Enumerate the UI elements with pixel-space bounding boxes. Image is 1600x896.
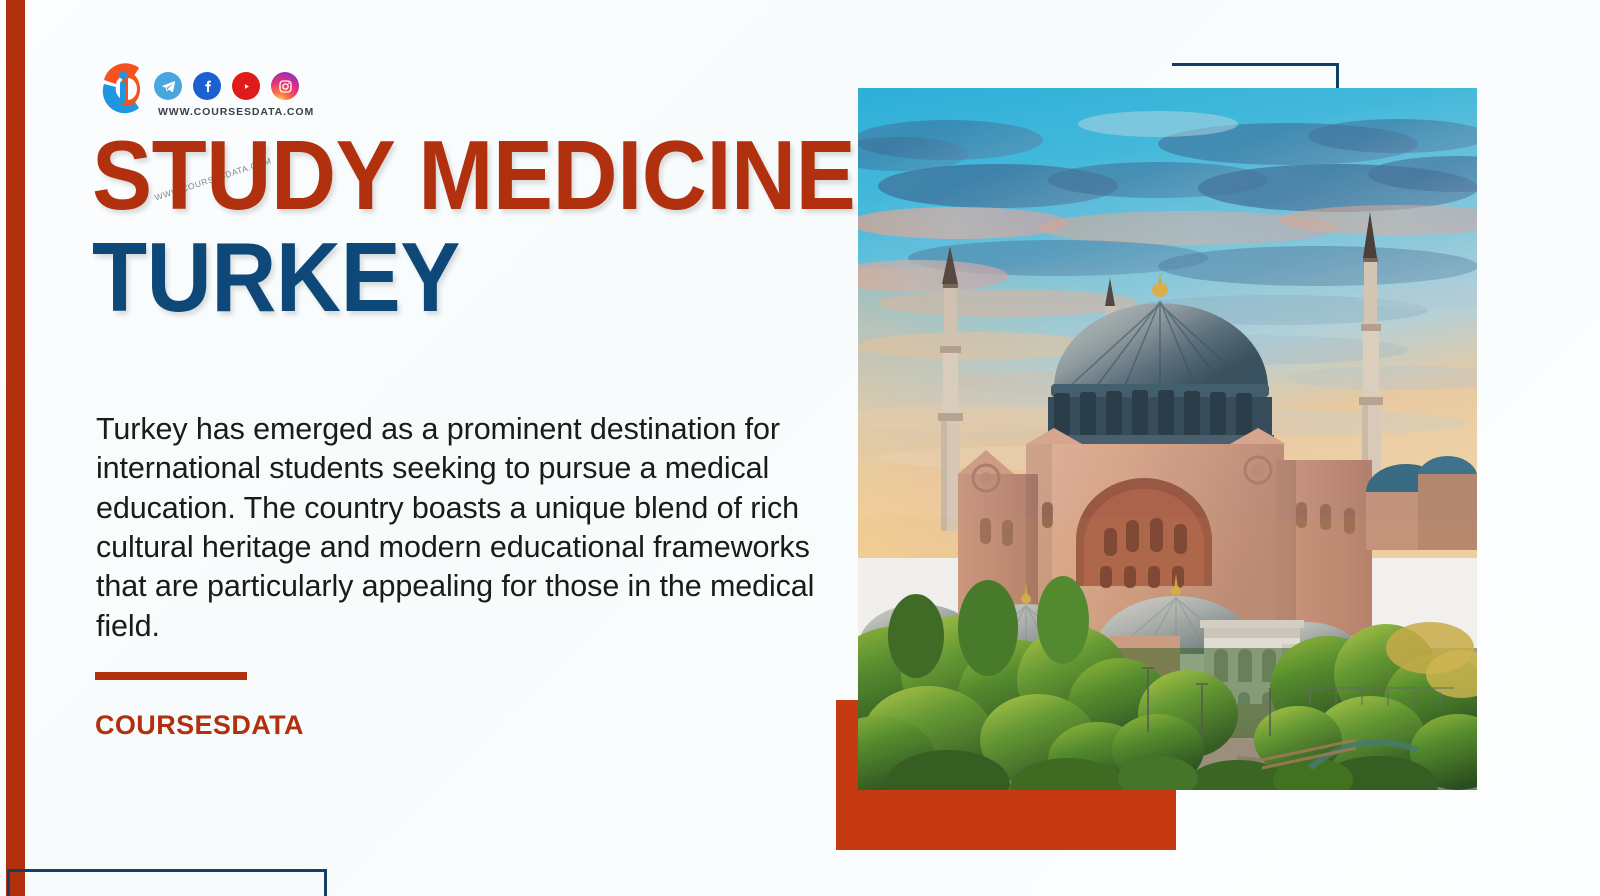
footer-brand: COURSESDATA xyxy=(95,710,304,741)
facebook-icon[interactable] xyxy=(193,72,221,100)
headline-line-1: STUDY MEDICINE xyxy=(92,128,791,222)
accent-divider xyxy=(95,672,247,680)
website-url: WWW.COURSESDATA.COM xyxy=(158,106,314,118)
brand-header: WWW.COURSESDATA.COM WWW.COURSESDATA.COM xyxy=(92,54,492,124)
bottom-left-navy-frame xyxy=(7,869,327,896)
instagram-icon[interactable] xyxy=(271,72,299,100)
poster-canvas: WWW.COURSESDATA.COM WWW.COURSESDATA.COM … xyxy=(0,0,1600,896)
headline-line-2: TURKEY xyxy=(92,230,791,324)
youtube-icon[interactable] xyxy=(232,72,260,100)
telegram-icon[interactable] xyxy=(154,72,182,100)
body-paragraph: Turkey has emerged as a prominent destin… xyxy=(96,410,836,646)
hagia-sophia-photo xyxy=(858,88,1477,790)
photo-composition xyxy=(836,58,1516,818)
coursesdata-logo-icon[interactable] xyxy=(92,54,160,122)
social-links xyxy=(154,72,299,100)
page-title: STUDY MEDICINE TURKEY xyxy=(92,128,852,324)
left-accent-bar xyxy=(6,0,25,896)
